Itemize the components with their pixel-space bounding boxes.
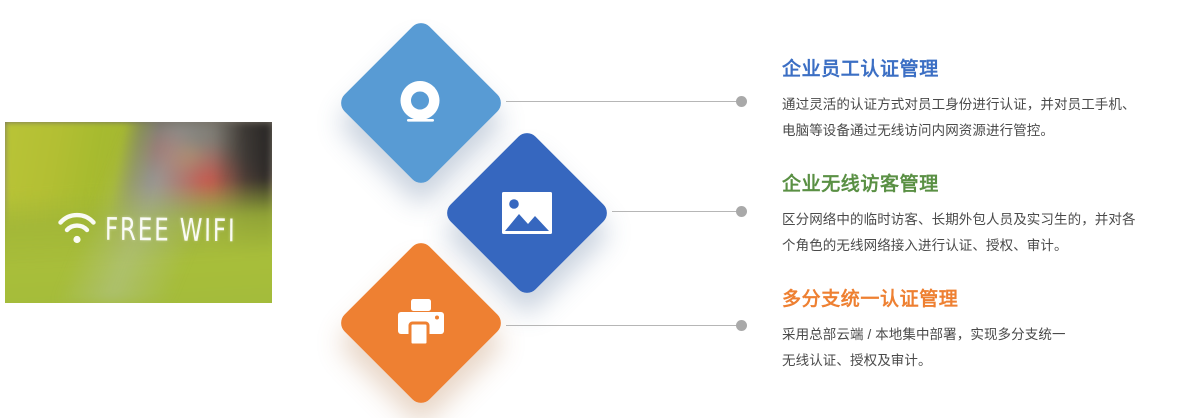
feature-body-line: 无线认证、授权及审计。 xyxy=(782,353,932,368)
feature-icon-tile-1[interactable] xyxy=(336,18,506,188)
free-wifi-photo: FREE WIFI xyxy=(5,122,272,303)
feature-text-1: 企业员工认证管理 通过灵活的认证方式对员工身份进行认证，并对员工手机、 电脑等设… xyxy=(782,60,1194,144)
feature-body-line: 个角色的无线网络接入进行认证、授权、审计。 xyxy=(782,238,1068,253)
printer-icon xyxy=(395,297,447,349)
wifi-icon xyxy=(57,210,97,244)
feature-title-3: 多分支统一认证管理 xyxy=(782,290,1194,311)
feature-text-2: 企业无线访客管理 区分网络中的临时访客、长期外包人员及实习生的，并对各 个角色的… xyxy=(782,175,1194,259)
connector-dot-2 xyxy=(736,206,747,217)
feature-text-3: 多分支统一认证管理 采用总部云端 / 本地集中部署，实现多分支统一 无线认证、授… xyxy=(782,290,1194,374)
connector-line-2 xyxy=(612,211,742,212)
webcam-icon xyxy=(393,75,449,131)
feature-icon-tile-3[interactable] xyxy=(336,238,506,408)
feature-body-2: 区分网络中的临时访客、长期外包人员及实习生的，并对各 个角色的无线网络接入进行认… xyxy=(782,207,1194,259)
connector-line-3 xyxy=(506,325,742,326)
feature-body-line: 采用总部云端 / 本地集中部署，实现多分支统一 xyxy=(782,327,1066,342)
feature-icon-tile-2[interactable] xyxy=(442,128,612,298)
feature-title-2: 企业无线访客管理 xyxy=(782,175,1194,196)
feature-title-1: 企业员工认证管理 xyxy=(782,60,1194,81)
feature-body-1: 通过灵活的认证方式对员工身份进行认证，并对员工手机、 电脑等设备通过无线访问内网… xyxy=(782,92,1194,144)
connector-dot-1 xyxy=(736,96,747,107)
feature-body-3: 采用总部云端 / 本地集中部署，实现多分支统一 无线认证、授权及审计。 xyxy=(782,322,1194,374)
photo-overlay-text: FREE WIFI xyxy=(105,211,237,249)
connector-line-1 xyxy=(506,101,742,102)
feature-body-line: 区分网络中的临时访客、长期外包人员及实习生的，并对各 xyxy=(782,212,1136,227)
feature-body-line: 电脑等设备通过无线访问内网资源进行管控。 xyxy=(782,123,1054,138)
feature-body-line: 通过灵活的认证方式对员工身份进行认证，并对员工手机、 xyxy=(782,97,1136,112)
image-icon xyxy=(501,191,553,235)
connector-dot-3 xyxy=(736,320,747,331)
